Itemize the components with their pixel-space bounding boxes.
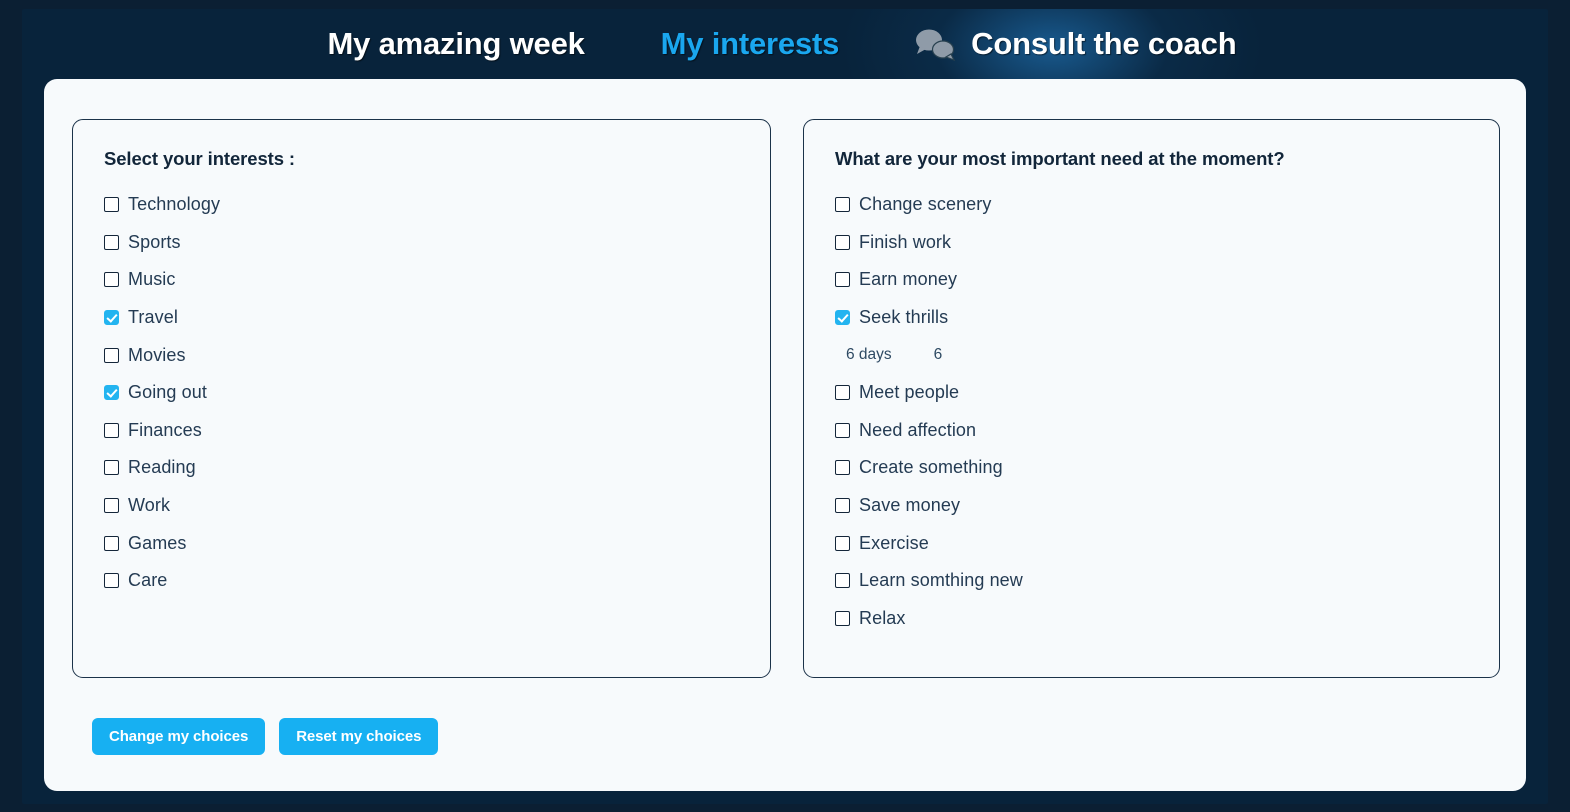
tab-consult-the-coach[interactable]: Consult the coach [913, 26, 1236, 62]
need-option-label: Exercise [859, 533, 929, 554]
interest-option-label: Games [128, 533, 187, 554]
interest-option-row[interactable]: Going out [104, 374, 756, 412]
need-option-row[interactable]: Relax [835, 600, 1485, 638]
checkbox-unchecked-icon[interactable] [835, 498, 850, 513]
interest-option-label: Care [128, 570, 167, 591]
interest-option-label: Technology [128, 194, 220, 215]
checkbox-checked-icon[interactable] [104, 385, 119, 400]
need-option-label: Create something [859, 457, 1003, 478]
interest-option-label: Work [128, 495, 170, 516]
checkbox-unchecked-icon[interactable] [835, 197, 850, 212]
interest-option-label: Sports [128, 232, 181, 253]
checkbox-unchecked-icon[interactable] [835, 611, 850, 626]
change-my-choices-button[interactable]: Change my choices [92, 718, 265, 755]
interests-panel-title: Select your interests : [104, 148, 295, 170]
checkbox-unchecked-icon[interactable] [835, 536, 850, 551]
panel-interests: Select your interests : TechnologySports… [72, 119, 771, 678]
checkbox-unchecked-icon[interactable] [104, 197, 119, 212]
need-option-label: Save money [859, 495, 960, 516]
checkbox-unchecked-icon[interactable] [104, 460, 119, 475]
need-option-row[interactable]: Learn somthing new [835, 562, 1485, 600]
checkbox-unchecked-icon[interactable] [835, 423, 850, 438]
need-option-label: Change scenery [859, 194, 991, 215]
tab-my-amazing-week[interactable]: My amazing week [328, 26, 585, 62]
interest-option-label: Reading [128, 457, 196, 478]
checkbox-unchecked-icon[interactable] [835, 272, 850, 287]
option-detail-row: 6 days6 [835, 336, 1485, 374]
action-buttons: Change my choices Reset my choices [92, 718, 438, 755]
interest-option-row[interactable]: Finances [104, 412, 756, 450]
chat-bubbles-icon [913, 27, 957, 61]
interest-option-label: Music [128, 269, 176, 290]
need-option-row[interactable]: Seek thrills [835, 299, 1485, 337]
interest-option-row[interactable]: Work [104, 487, 756, 525]
checkbox-unchecked-icon[interactable] [835, 573, 850, 588]
need-option-row[interactable]: Change scenery [835, 186, 1485, 224]
interest-option-row[interactable]: Travel [104, 299, 756, 337]
need-option-label: Learn somthing new [859, 570, 1023, 591]
content-card: Select your interests : TechnologySports… [44, 79, 1526, 791]
checkbox-unchecked-icon[interactable] [104, 348, 119, 363]
detail-duration: 6 days [846, 346, 892, 364]
need-option-row[interactable]: Earn money [835, 261, 1485, 299]
need-option-row[interactable]: Meet people [835, 374, 1485, 412]
interest-option-row[interactable]: Music [104, 261, 756, 299]
interest-option-label: Movies [128, 345, 186, 366]
checkbox-checked-icon[interactable] [104, 310, 119, 325]
interest-option-row[interactable]: Reading [104, 449, 756, 487]
tab-consult-the-coach-label: Consult the coach [971, 26, 1236, 62]
checkbox-unchecked-icon[interactable] [835, 460, 850, 475]
interests-option-list: TechnologySportsMusicTravelMoviesGoing o… [104, 186, 756, 600]
interest-option-row[interactable]: Games [104, 524, 756, 562]
need-option-row[interactable]: Save money [835, 487, 1485, 525]
detail-value: 6 [934, 346, 943, 364]
interest-option-row[interactable]: Technology [104, 186, 756, 224]
checkbox-unchecked-icon[interactable] [835, 235, 850, 250]
interest-option-row[interactable]: Movies [104, 336, 756, 374]
needs-panel-title: What are your most important need at the… [835, 148, 1285, 170]
need-option-row[interactable]: Create something [835, 449, 1485, 487]
tab-my-interests[interactable]: My interests [661, 26, 840, 62]
checkbox-unchecked-icon[interactable] [104, 272, 119, 287]
reset-my-choices-button[interactable]: Reset my choices [279, 718, 438, 755]
need-option-row[interactable]: Finish work [835, 224, 1485, 262]
need-option-label: Need affection [859, 420, 976, 441]
need-option-row[interactable]: Exercise [835, 524, 1485, 562]
checkbox-unchecked-icon[interactable] [104, 536, 119, 551]
need-option-label: Seek thrills [859, 307, 948, 328]
need-option-label: Finish work [859, 232, 951, 253]
app-frame: My amazing week My interests Consult the… [22, 9, 1548, 804]
needs-option-list: Change sceneryFinish workEarn moneySeek … [835, 186, 1485, 637]
interest-option-label: Going out [128, 382, 207, 403]
interest-option-label: Finances [128, 420, 202, 441]
interest-option-row[interactable]: Care [104, 562, 756, 600]
header-nav: My amazing week My interests Consult the… [22, 9, 1548, 79]
panel-needs: What are your most important need at the… [803, 119, 1500, 678]
need-option-row[interactable]: Need affection [835, 412, 1485, 450]
need-option-label: Earn money [859, 269, 957, 290]
need-option-label: Relax [859, 608, 906, 629]
interest-option-row[interactable]: Sports [104, 224, 756, 262]
checkbox-unchecked-icon[interactable] [104, 498, 119, 513]
checkbox-checked-icon[interactable] [835, 310, 850, 325]
checkbox-unchecked-icon[interactable] [104, 573, 119, 588]
interest-option-label: Travel [128, 307, 178, 328]
checkbox-unchecked-icon[interactable] [104, 235, 119, 250]
need-option-label: Meet people [859, 382, 959, 403]
checkbox-unchecked-icon[interactable] [835, 385, 850, 400]
checkbox-unchecked-icon[interactable] [104, 423, 119, 438]
